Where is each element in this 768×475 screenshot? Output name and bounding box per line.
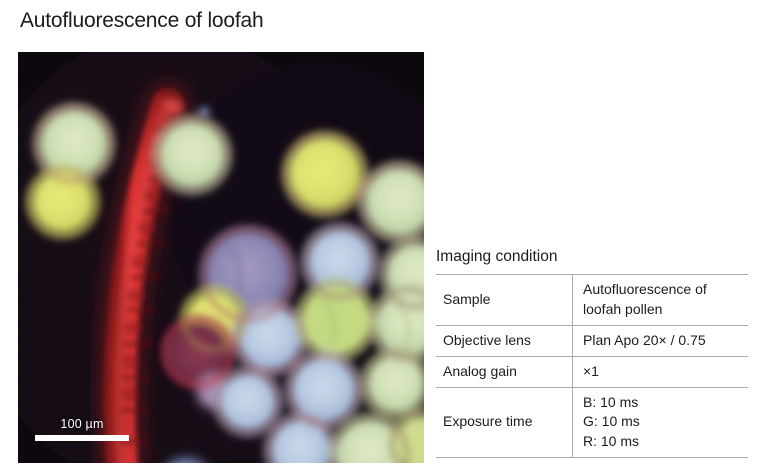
- value-line: Plan Apo 20× / 0.75: [583, 331, 748, 351]
- value-line: loofah pollen: [583, 300, 748, 320]
- table-row: Objective lens Plan Apo 20× / 0.75: [436, 325, 748, 356]
- value-line-green: G: 10 ms: [583, 412, 748, 432]
- imaging-condition-panel: Imaging condition Sample Autofluorescenc…: [436, 248, 748, 458]
- table-row: Analog gain ×1: [436, 356, 748, 387]
- imaging-condition-heading: Imaging condition: [436, 248, 748, 274]
- row-label-analog-gain: Analog gain: [436, 356, 573, 387]
- value-line: Autofluorescence of: [583, 280, 748, 300]
- table-row: Sample Autofluorescence of loofah pollen: [436, 275, 748, 326]
- fluorescence-micrograph: 100 µm: [18, 52, 424, 463]
- row-label-objective-lens: Objective lens: [436, 325, 573, 356]
- scale-bar-line: [35, 435, 129, 441]
- page-title: Autofluorescence of loofah: [20, 9, 263, 33]
- row-value-exposure-time: B: 10 ms G: 10 ms R: 10 ms: [573, 387, 749, 458]
- table-row: Exposure time B: 10 ms G: 10 ms R: 10 ms: [436, 387, 748, 458]
- imaging-condition-table: Sample Autofluorescence of loofah pollen…: [436, 274, 748, 458]
- row-label-exposure-time: Exposure time: [436, 387, 573, 458]
- micrograph-canvas: [18, 52, 424, 463]
- scale-bar-label: 100 µm: [33, 417, 131, 431]
- row-value-analog-gain: ×1: [573, 356, 749, 387]
- scale-bar: 100 µm: [33, 417, 131, 441]
- value-line: ×1: [583, 362, 748, 382]
- value-line-red: R: 10 ms: [583, 432, 748, 452]
- row-value-sample: Autofluorescence of loofah pollen: [573, 275, 749, 326]
- row-label-sample: Sample: [436, 275, 573, 326]
- value-line-blue: B: 10 ms: [583, 393, 748, 413]
- row-value-objective-lens: Plan Apo 20× / 0.75: [573, 325, 749, 356]
